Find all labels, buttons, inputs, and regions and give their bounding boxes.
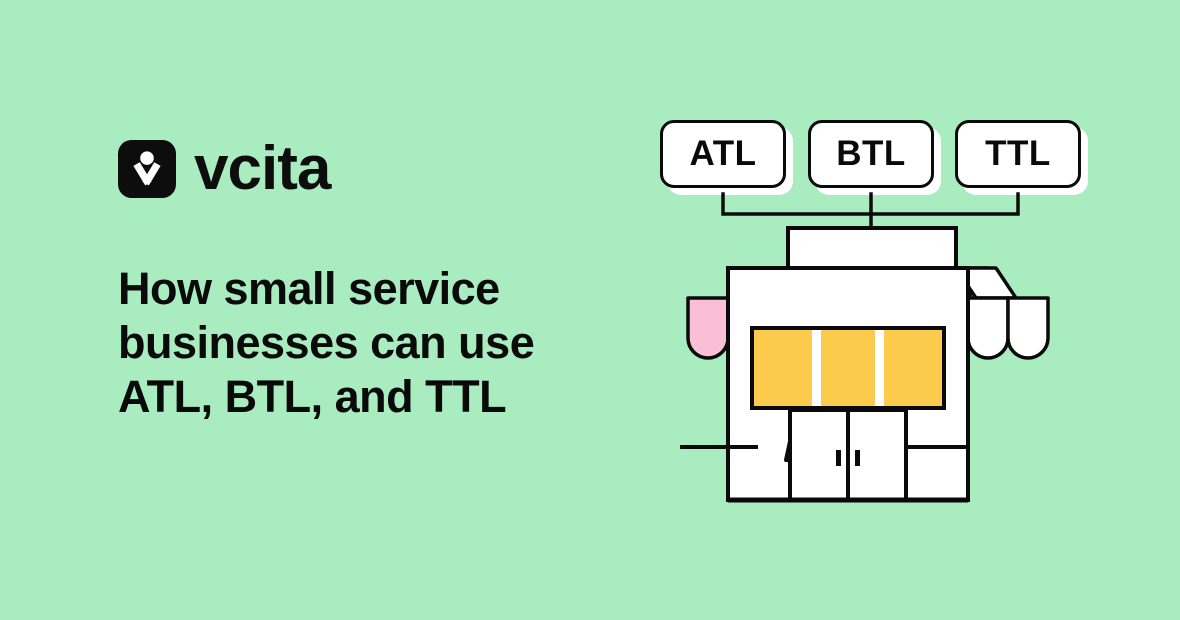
- brand-name: vcita: [194, 138, 330, 200]
- shop-signboard: [788, 228, 956, 268]
- connector-lines: [723, 194, 1018, 228]
- shop-window: [752, 328, 944, 408]
- vcita-person-logo-icon: [118, 140, 176, 198]
- brand-lockup: vcita: [118, 138, 330, 200]
- page-title: How small service businesses can use ATL…: [118, 262, 638, 424]
- storefront-illustration: [640, 110, 1110, 510]
- atl-btl-ttl-diagram: ATL BTL TTL: [640, 110, 1110, 510]
- poster-canvas: vcita How small service businesses can u…: [0, 0, 1180, 620]
- shop-doors: [790, 410, 906, 500]
